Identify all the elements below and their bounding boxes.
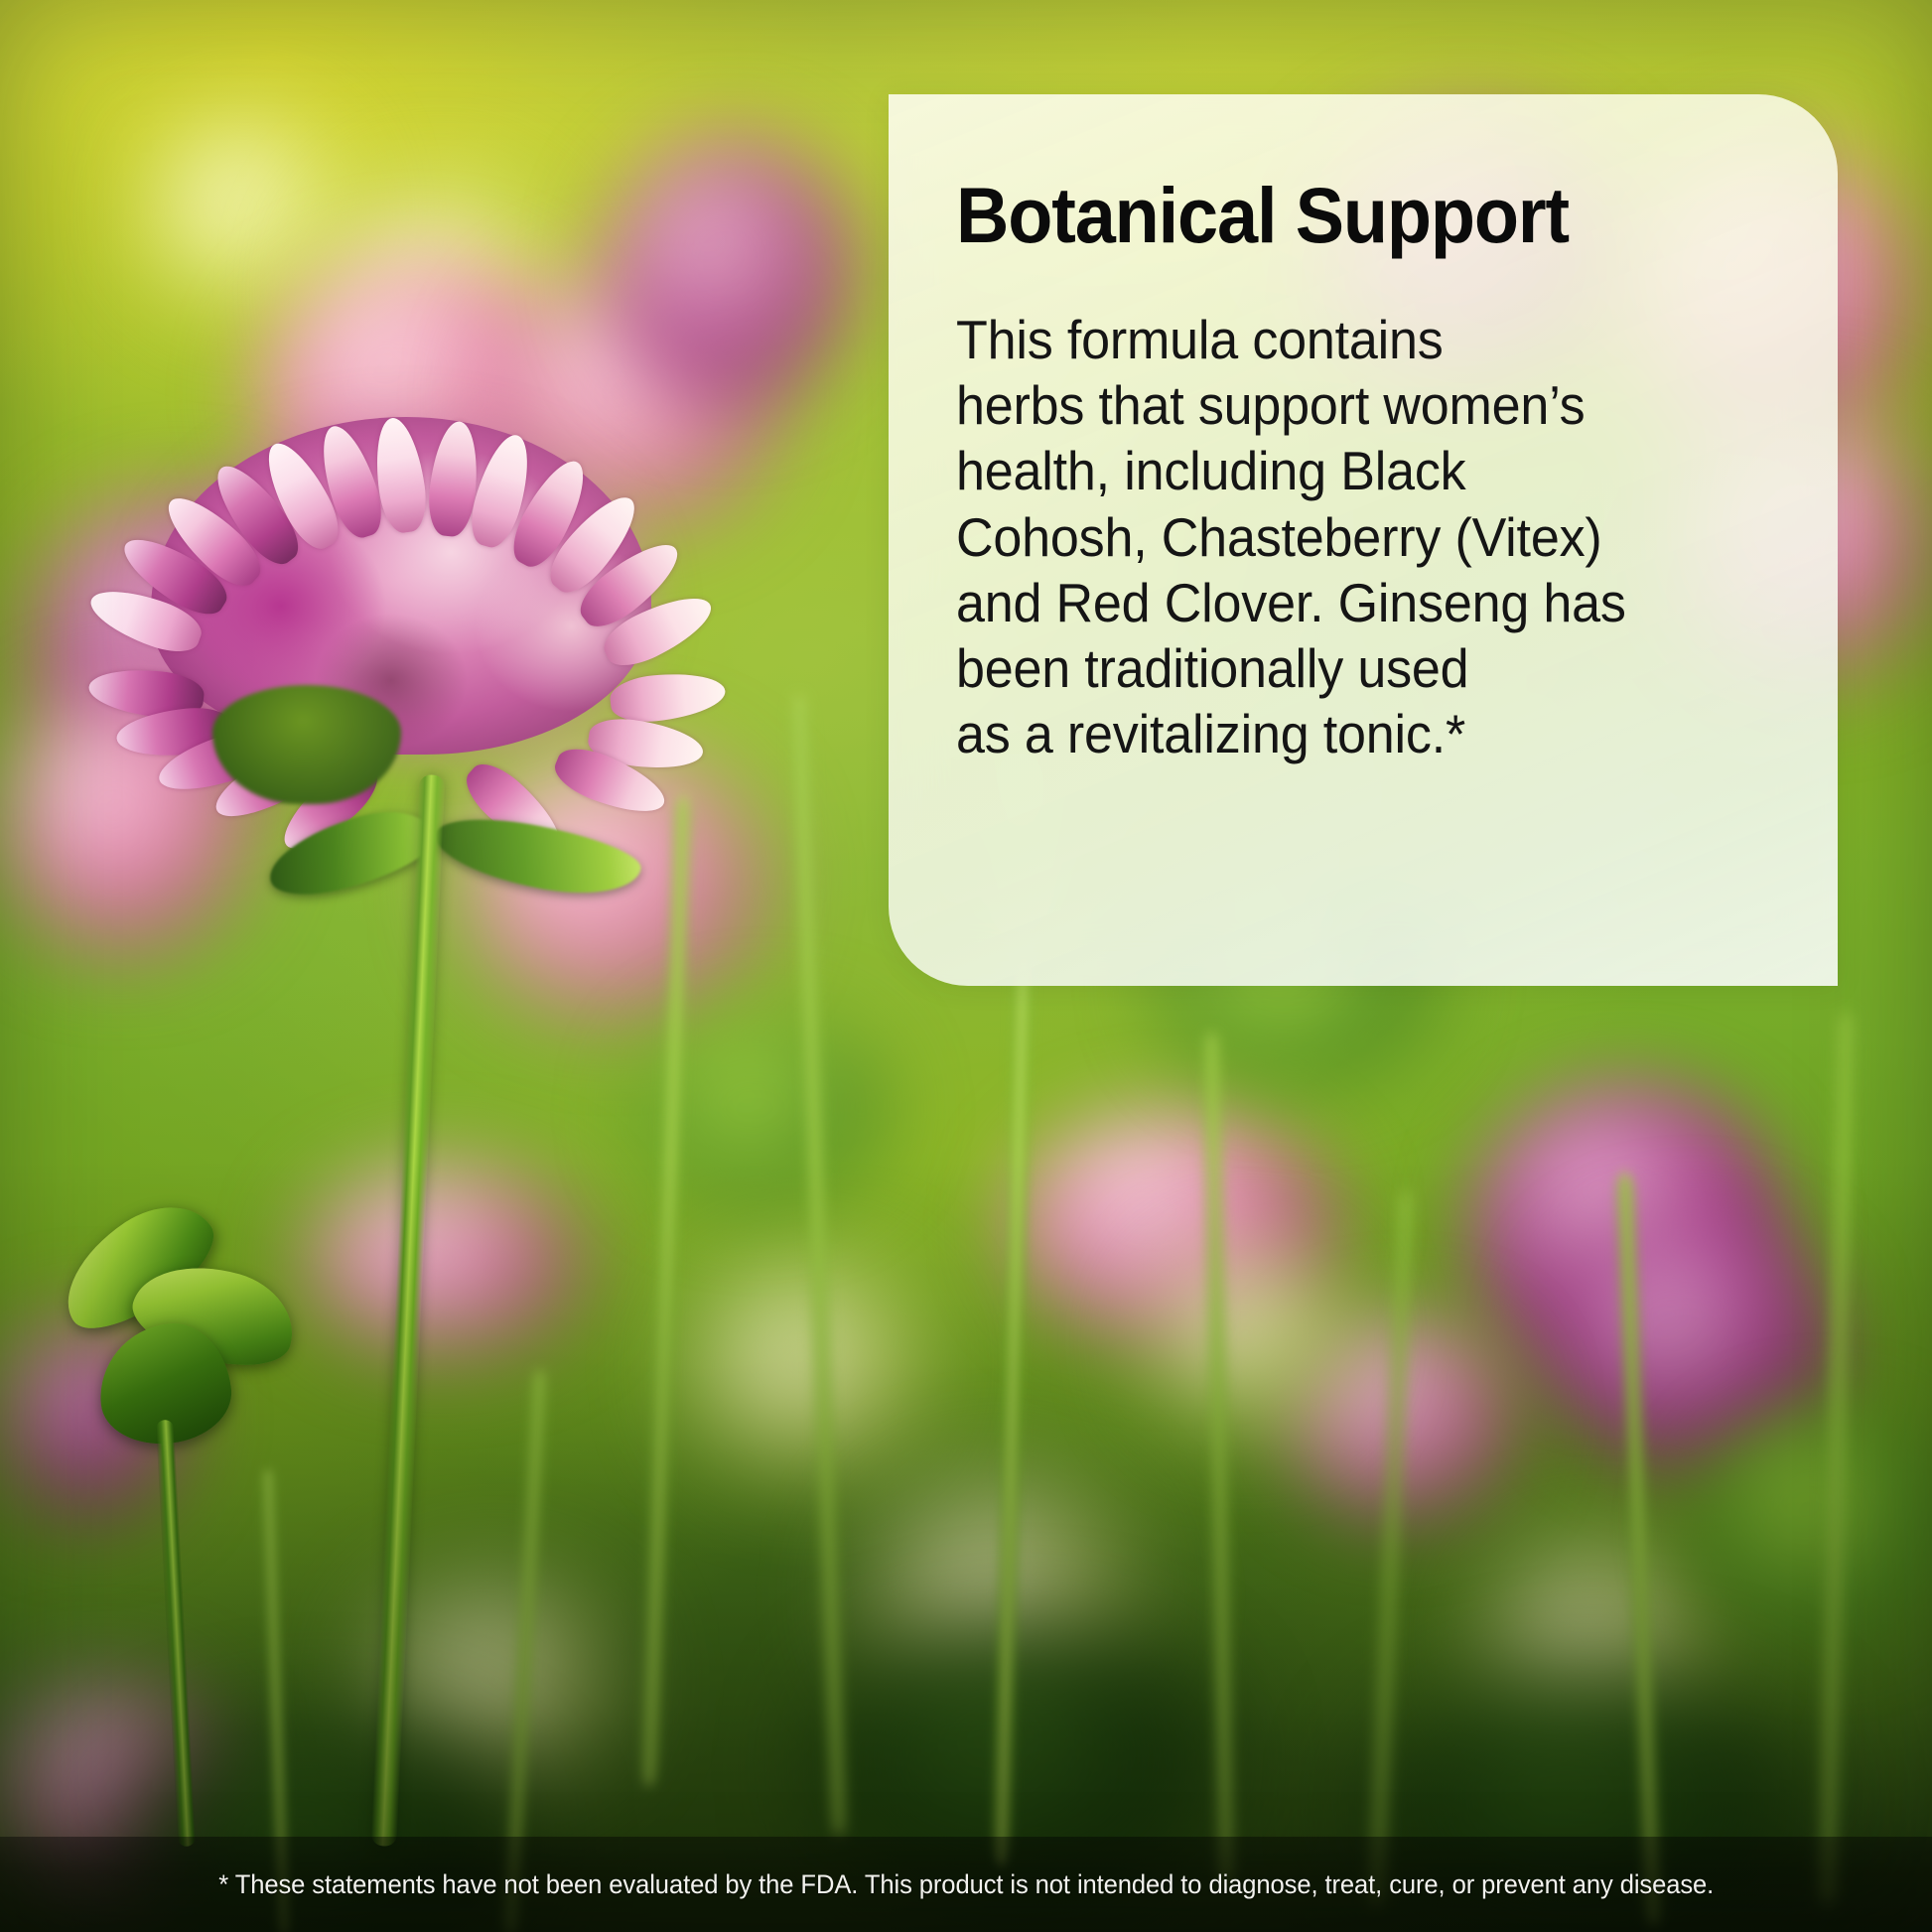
card-body-line: as a revitalizing tonic.* xyxy=(956,702,1739,767)
card-body-line: Cohosh, Chasteberry (Vitex) xyxy=(956,505,1739,571)
bokeh-light-19 xyxy=(695,1271,923,1469)
card-body: This formula contains herbs that support… xyxy=(956,308,1739,767)
card-body-line: This formula contains xyxy=(956,308,1739,373)
disclaimer-band: * These statements have not been evaluat… xyxy=(0,1837,1932,1932)
botanical-support-card: Botanical Support This formula contains … xyxy=(889,94,1838,986)
bokeh-clover-16 xyxy=(308,1172,586,1350)
card-body-line: health, including Black xyxy=(956,439,1739,504)
bokeh-clover-05 xyxy=(606,139,854,407)
fda-disclaimer-text: * These statements have not been evaluat… xyxy=(218,1871,1714,1898)
bokeh-light-21 xyxy=(1152,1251,1350,1430)
bokeh-light-01 xyxy=(149,119,347,308)
trefoil-leaf-cluster xyxy=(38,1221,336,1469)
card-body-line: herbs that support women’s xyxy=(956,373,1739,439)
promo-image: Botanical Support This formula contains … xyxy=(0,0,1932,1932)
card-title: Botanical Support xyxy=(956,176,1723,254)
card-body-line: and Red Clover. Ginseng has xyxy=(956,571,1739,636)
clover-flower-head xyxy=(151,417,651,755)
card-body-line: been traditionally used xyxy=(956,636,1739,702)
